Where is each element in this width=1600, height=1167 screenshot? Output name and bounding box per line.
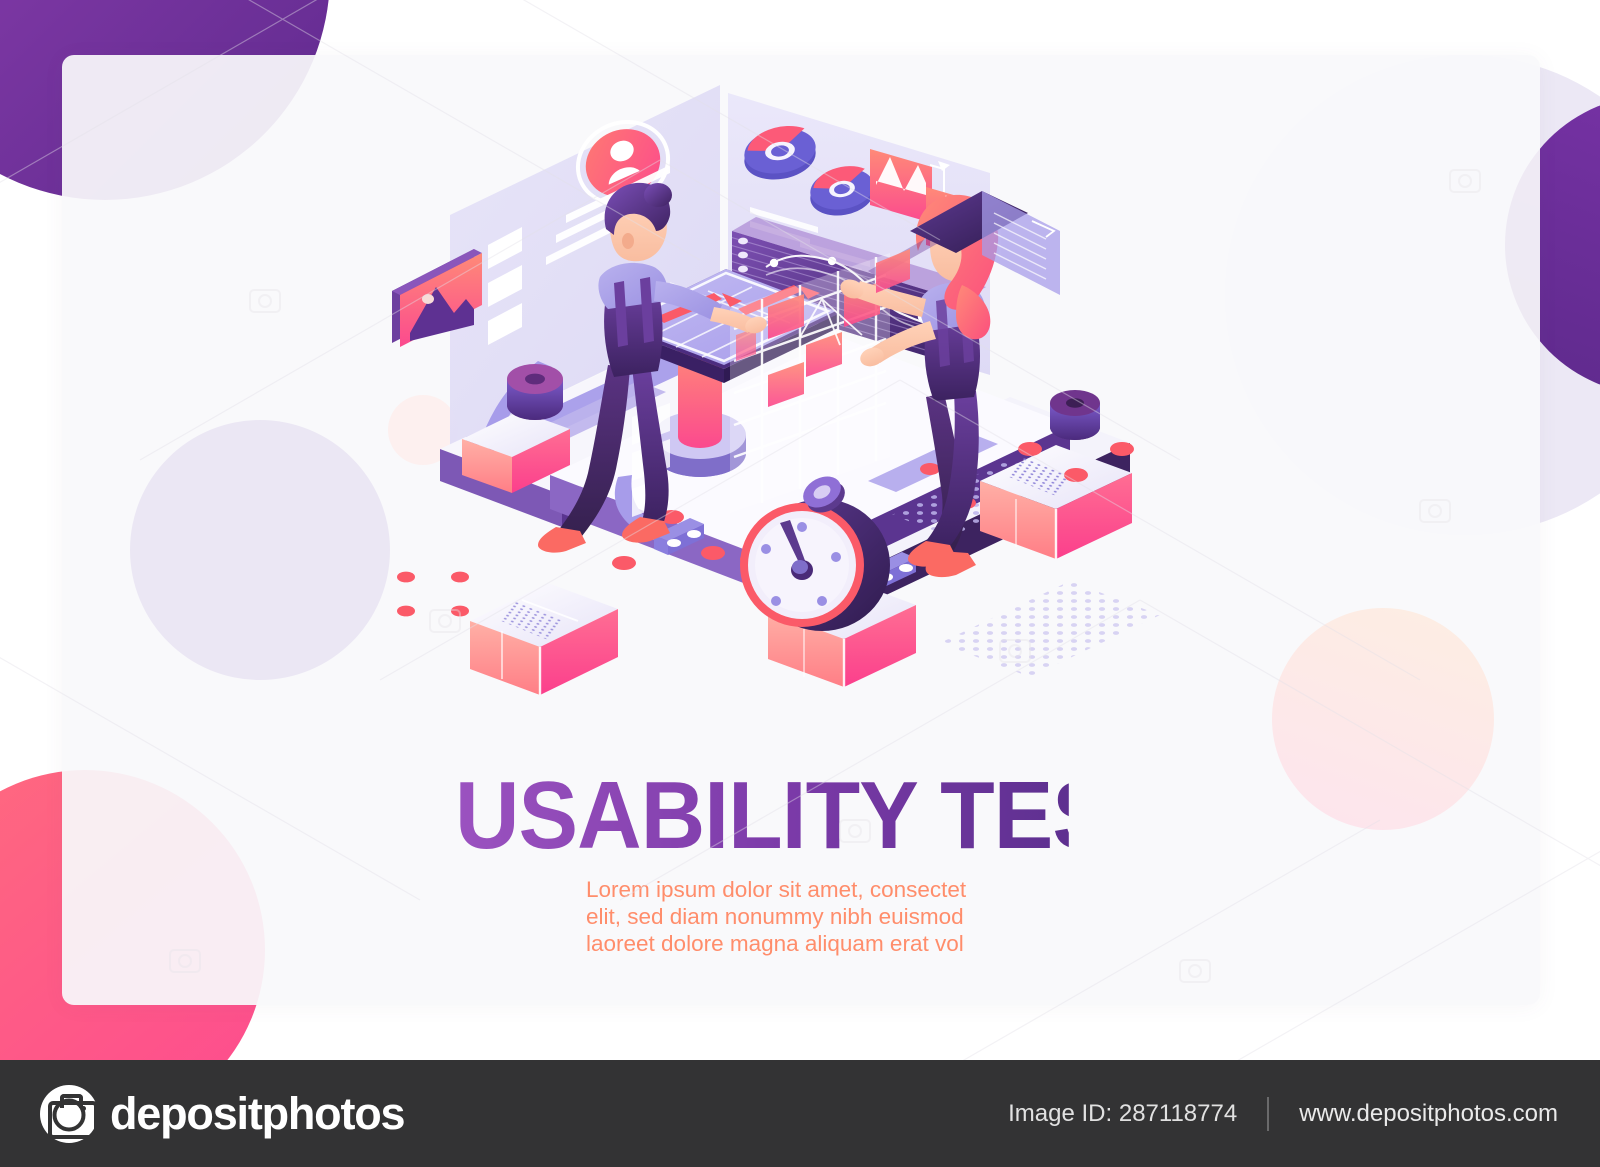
website-url-label[interactable]: www.depositphotos.com [1299, 1100, 1558, 1128]
usability-testing-illustration [370, 45, 1190, 745]
gift-box-bottom-left [470, 583, 618, 695]
decorative-circle-lavender-left [130, 420, 390, 680]
footer-divider [1267, 1097, 1269, 1131]
brand-wordmark: depositphotos [110, 1088, 404, 1140]
subtitle-line-2: elit, sed diam nonummy nibh euismod [586, 903, 986, 930]
image-id-label: Image ID: 287118774 [1008, 1100, 1237, 1128]
subtitle-paragraph: Lorem ipsum dolor sit amet, consectet el… [586, 876, 986, 957]
camera-icon [40, 1085, 98, 1143]
dot-field-floor [940, 581, 1160, 677]
watermark-footer: depositphotos Image ID: 287118774 www.de… [0, 1060, 1600, 1167]
page-title: USABILITY TESTING [455, 768, 1069, 864]
footer-meta: Image ID: 287118774 www.depositphotos.co… [1008, 1097, 1558, 1131]
poster-canvas: USABILITY TESTING Lorem ipsum dolor sit … [0, 0, 1600, 1167]
depositphotos-brand: depositphotos [40, 1085, 404, 1143]
subtitle-line-1: Lorem ipsum dolor sit amet, consectet [586, 876, 986, 903]
subtitle-line-3: laoreet dolore magna aliquam erat vol [586, 930, 986, 957]
spool-left [507, 364, 563, 420]
